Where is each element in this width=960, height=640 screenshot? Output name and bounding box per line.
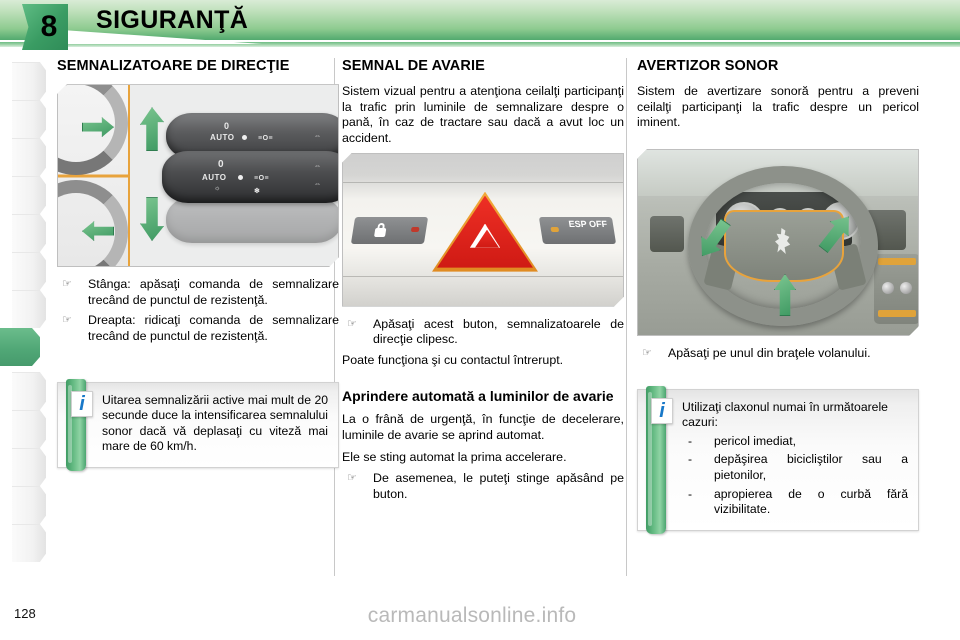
column-horn: AVERTIZOR SONOR Sistem de avertizare son… bbox=[637, 58, 919, 531]
sidebar-tab-8-active[interactable] bbox=[0, 328, 40, 366]
arrow-up-icon bbox=[140, 107, 164, 151]
steering-wheel-horn-illustration bbox=[637, 149, 919, 336]
list-item-text: depăşirea bicicliştilor sau a pietonilor… bbox=[714, 452, 908, 482]
hazard-instructions: ☞ Apăsaţi acest buton, semnalizatoarele … bbox=[342, 317, 624, 348]
sidebar-tab-13[interactable] bbox=[12, 524, 46, 562]
list-item-text: Apăsaţi acest buton, semnalizatoarele de… bbox=[373, 317, 624, 347]
dash-seam-line bbox=[343, 276, 623, 277]
list-item: ☞ De asemenea, le puteţi stinge apăsând … bbox=[342, 471, 624, 502]
pointing-hand-icon: ☞ bbox=[642, 347, 652, 361]
list-item-text: Stânga: apăsaţi comanda de semnalizare t… bbox=[88, 277, 339, 307]
list-item: - apropierea de o curbă fără vizibilitat… bbox=[682, 487, 908, 518]
sidebar-tab-5[interactable] bbox=[12, 214, 46, 252]
column-hazard-warning: SEMNAL DE AVARIE Sistem vizual pentru a … bbox=[342, 58, 624, 507]
dash-bullet: - bbox=[688, 434, 692, 450]
auto-hazard-paragraph-2: Ele se sting automat la prima accelerare… bbox=[342, 450, 624, 466]
info-box-turn-signal: i Uitarea semnalizării active mai mult d… bbox=[57, 382, 339, 468]
subsection-title-auto-hazard: Aprindere automată a luminilor de avarie bbox=[342, 388, 624, 405]
section-title-horn: AVERTIZOR SONOR bbox=[637, 58, 919, 75]
air-vent-left bbox=[650, 216, 684, 252]
sidebar-tab-4[interactable] bbox=[12, 176, 46, 214]
list-item: ☞ Apăsaţi pe unul din braţele volanului. bbox=[637, 346, 919, 362]
pointing-hand-icon: ☞ bbox=[62, 314, 72, 328]
section-title-turn-signals: SEMNALIZATOARE DE DIRECŢIE bbox=[57, 58, 339, 75]
column-turn-signals: SEMNALIZATOARE DE DIRECŢIE 0 AUTO ≡O≡ ⇔ … bbox=[57, 58, 339, 468]
list-item: ☞ Dreapta: ridicaţi comanda de semnaliza… bbox=[57, 313, 339, 344]
list-item-text: Dreapta: ridicaţi comanda de semnalizare… bbox=[88, 313, 339, 343]
list-item-text: apropierea de o curbă fără vizibilitate. bbox=[714, 487, 908, 517]
lock-icon bbox=[374, 223, 387, 237]
indicator-led-red bbox=[411, 227, 420, 232]
dash-bullet: - bbox=[688, 487, 692, 503]
sidebar-tab-11[interactable] bbox=[12, 448, 46, 486]
auto-hazard-instructions: ☞ De asemenea, le puteţi stinge apăsând … bbox=[342, 471, 624, 502]
list-item: - depăşirea bicicliştilor sau a pietonil… bbox=[682, 452, 908, 483]
horn-intro-text: Sistem de avertizare sonoră pentru a pre… bbox=[637, 84, 919, 131]
info-icon: i bbox=[651, 398, 673, 424]
chapter-tab-strip[interactable] bbox=[12, 62, 46, 562]
list-item: ☞ Stânga: apăsaţi comanda de semnalizare… bbox=[57, 277, 339, 308]
arrow-down-icon bbox=[140, 197, 164, 241]
horn-use-cases-list: - pericol imediat, - depăşirea biciclişt… bbox=[682, 434, 908, 518]
list-item-text: Apăsaţi pe unul din braţele volanului. bbox=[668, 346, 871, 360]
sidebar-tab-1[interactable] bbox=[12, 62, 46, 100]
sidebar-tab-10[interactable] bbox=[12, 410, 46, 448]
hazard-warning-button-illustration: ESP OFF bbox=[342, 153, 624, 307]
central-locking-button bbox=[351, 217, 428, 244]
list-item-text: pericol imediat, bbox=[714, 434, 796, 448]
page-title: SIGURANŢĂ bbox=[96, 6, 248, 35]
info-box-horn: i Utilizaţi claxonul numai în următoarel… bbox=[637, 389, 919, 531]
horn-instructions: ☞ Apăsaţi pe unul din braţele volanului. bbox=[637, 346, 919, 362]
chapter-number-badge: 8 bbox=[22, 4, 68, 50]
sidebar-tab-12[interactable] bbox=[12, 486, 46, 524]
sidebar-tab-6[interactable] bbox=[12, 252, 46, 290]
stalk-shadow bbox=[166, 197, 339, 243]
info-box-text: Utilizaţi claxonul numai în următoarele … bbox=[682, 400, 908, 431]
dash-seam-line bbox=[343, 182, 623, 183]
hazard-note-text: Poate funcţiona şi cu contactul întrerup… bbox=[342, 353, 624, 369]
stalk-lower: 0 AUTO ≡O≡ ☼ ❄ ⇔ ⇔ bbox=[162, 151, 339, 203]
hazard-intro-text: Sistem vizual pentru a atenţiona ceilalţ… bbox=[342, 84, 624, 147]
dash-bullet: - bbox=[688, 452, 692, 468]
auto-hazard-paragraph-1: La o frână de urgenţă, în funcţie de dec… bbox=[342, 412, 624, 443]
watermark: carmanualsonline.info bbox=[0, 604, 960, 628]
info-icon: i bbox=[71, 391, 93, 417]
list-item-text: De asemenea, le puteţi stinge apăsând pe… bbox=[373, 471, 624, 501]
turn-signal-stalk-illustration: 0 AUTO ≡O≡ ⇔ 0 AUTO ≡O≡ ☼ ❄ ⇔ ⇔ bbox=[57, 84, 339, 267]
pointing-hand-icon: ☞ bbox=[62, 278, 72, 292]
chapter-number: 8 bbox=[33, 12, 58, 42]
list-item: - pericol imediat, bbox=[682, 434, 908, 450]
esp-off-label: ESP OFF bbox=[568, 220, 608, 229]
sidebar-tab-3[interactable] bbox=[12, 138, 46, 176]
esp-off-button: ESP OFF bbox=[539, 217, 616, 244]
pointing-hand-icon: ☞ bbox=[347, 318, 357, 332]
pointing-hand-icon: ☞ bbox=[347, 472, 357, 486]
info-box-text: Uitarea semnalizării active mai mult de … bbox=[102, 393, 328, 455]
section-title-hazard: SEMNAL DE AVARIE bbox=[342, 58, 624, 75]
turn-signal-instructions: ☞ Stânga: apăsaţi comanda de semnalizare… bbox=[57, 277, 339, 345]
column-divider-2 bbox=[626, 58, 627, 576]
sidebar-tab-7[interactable] bbox=[12, 290, 46, 328]
manual-page: 8 SIGURANŢĂ SEMNALIZATOARE DE DIRECŢIE bbox=[0, 0, 960, 640]
indicator-led-amber bbox=[550, 227, 559, 232]
center-console bbox=[874, 254, 919, 324]
sidebar-tab-9[interactable] bbox=[12, 372, 46, 410]
list-item: ☞ Apăsaţi acest buton, semnalizatoarele … bbox=[342, 317, 624, 348]
sidebar-tab-2[interactable] bbox=[12, 100, 46, 138]
